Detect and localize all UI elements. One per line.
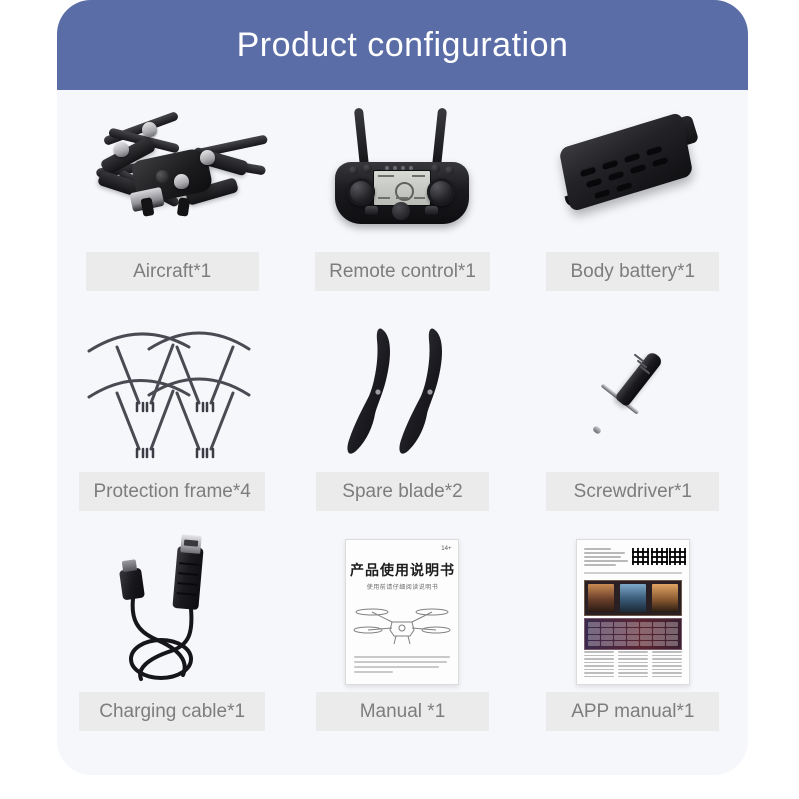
- grid-item-charging-cable[interactable]: Charging cable*1: [57, 536, 287, 756]
- product-configuration-page: Product configuration Aircraft*1: [0, 0, 799, 799]
- manual-age-mark: 14+: [441, 546, 451, 552]
- manual-image: 14+ 产品使用说明书 使用前请仔细阅读说明书: [307, 536, 497, 688]
- app-manual-image: [538, 536, 728, 688]
- micro-usb-connector: [119, 568, 145, 601]
- manual-title: 产品使用说明书: [346, 560, 458, 580]
- screwdriver-image: [538, 316, 728, 468]
- manual-drone-drawing: [352, 598, 452, 650]
- app-control-grid-panel: [584, 618, 682, 650]
- grid-item-screwdriver[interactable]: Screwdriver*1: [518, 316, 748, 536]
- app-manual-divider: [584, 572, 682, 574]
- battery-pack-icon: [550, 112, 715, 232]
- label-spare-blade: Spare blade*2: [316, 472, 489, 511]
- page-title: Product configuration: [237, 28, 569, 62]
- spare-blade-image: [307, 316, 497, 468]
- label-manual: Manual *1: [316, 692, 489, 731]
- qr-code-icon: [632, 548, 649, 565]
- app-manual-columns: [584, 651, 682, 679]
- manual-subtitle: 使用前请仔细阅读说明书: [346, 582, 458, 591]
- label-remote-control: Remote control*1: [315, 252, 490, 291]
- qr-code-icon: [651, 548, 668, 565]
- label-protection-frame: Protection frame*4: [79, 472, 265, 511]
- aircraft-image: [77, 96, 267, 248]
- grid-item-manual[interactable]: 14+ 产品使用说明书 使用前请仔细阅读说明书: [287, 536, 517, 756]
- label-app-manual: APP manual*1: [546, 692, 719, 731]
- label-screwdriver: Screwdriver*1: [546, 472, 719, 511]
- label-body-battery: Body battery*1: [546, 252, 719, 291]
- grid-item-protection-frame[interactable]: Protection frame*4: [57, 316, 287, 536]
- app-manual-sheet-icon: [576, 539, 690, 685]
- app-screenshot-strip: [584, 580, 682, 616]
- remote-control-image: [307, 96, 497, 248]
- accessory-grid: Aircraft*1: [57, 96, 748, 756]
- usb-charging-cable-icon: [97, 537, 247, 687]
- page-header: Product configuration: [57, 0, 748, 90]
- grid-item-body-battery[interactable]: Body battery*1: [518, 96, 748, 316]
- grid-item-app-manual[interactable]: APP manual*1: [518, 536, 748, 756]
- grid-item-aircraft[interactable]: Aircraft*1: [57, 96, 287, 316]
- grid-item-remote-control[interactable]: Remote control*1: [287, 96, 517, 316]
- label-aircraft: Aircraft*1: [86, 252, 259, 291]
- body-battery-image: [538, 96, 728, 248]
- qr-code-icon: [669, 548, 686, 565]
- protection-frame-image: [77, 316, 267, 468]
- printed-manual-icon: 14+ 产品使用说明书 使用前请仔细阅读说明书: [345, 539, 459, 685]
- charging-cable-image: [77, 536, 267, 688]
- app-manual-text-lines: [584, 548, 630, 568]
- remote-controller-icon: [327, 102, 477, 242]
- propeller-blades-icon: [327, 322, 477, 462]
- label-charging-cable: Charging cable*1: [79, 692, 265, 731]
- propeller-guard-icon: [77, 317, 267, 467]
- screwdriver-icon: [553, 327, 713, 457]
- grid-item-spare-blade[interactable]: Spare blade*2: [287, 316, 517, 536]
- manual-footer-text: [354, 656, 450, 676]
- drone-folded-icon: [82, 102, 262, 242]
